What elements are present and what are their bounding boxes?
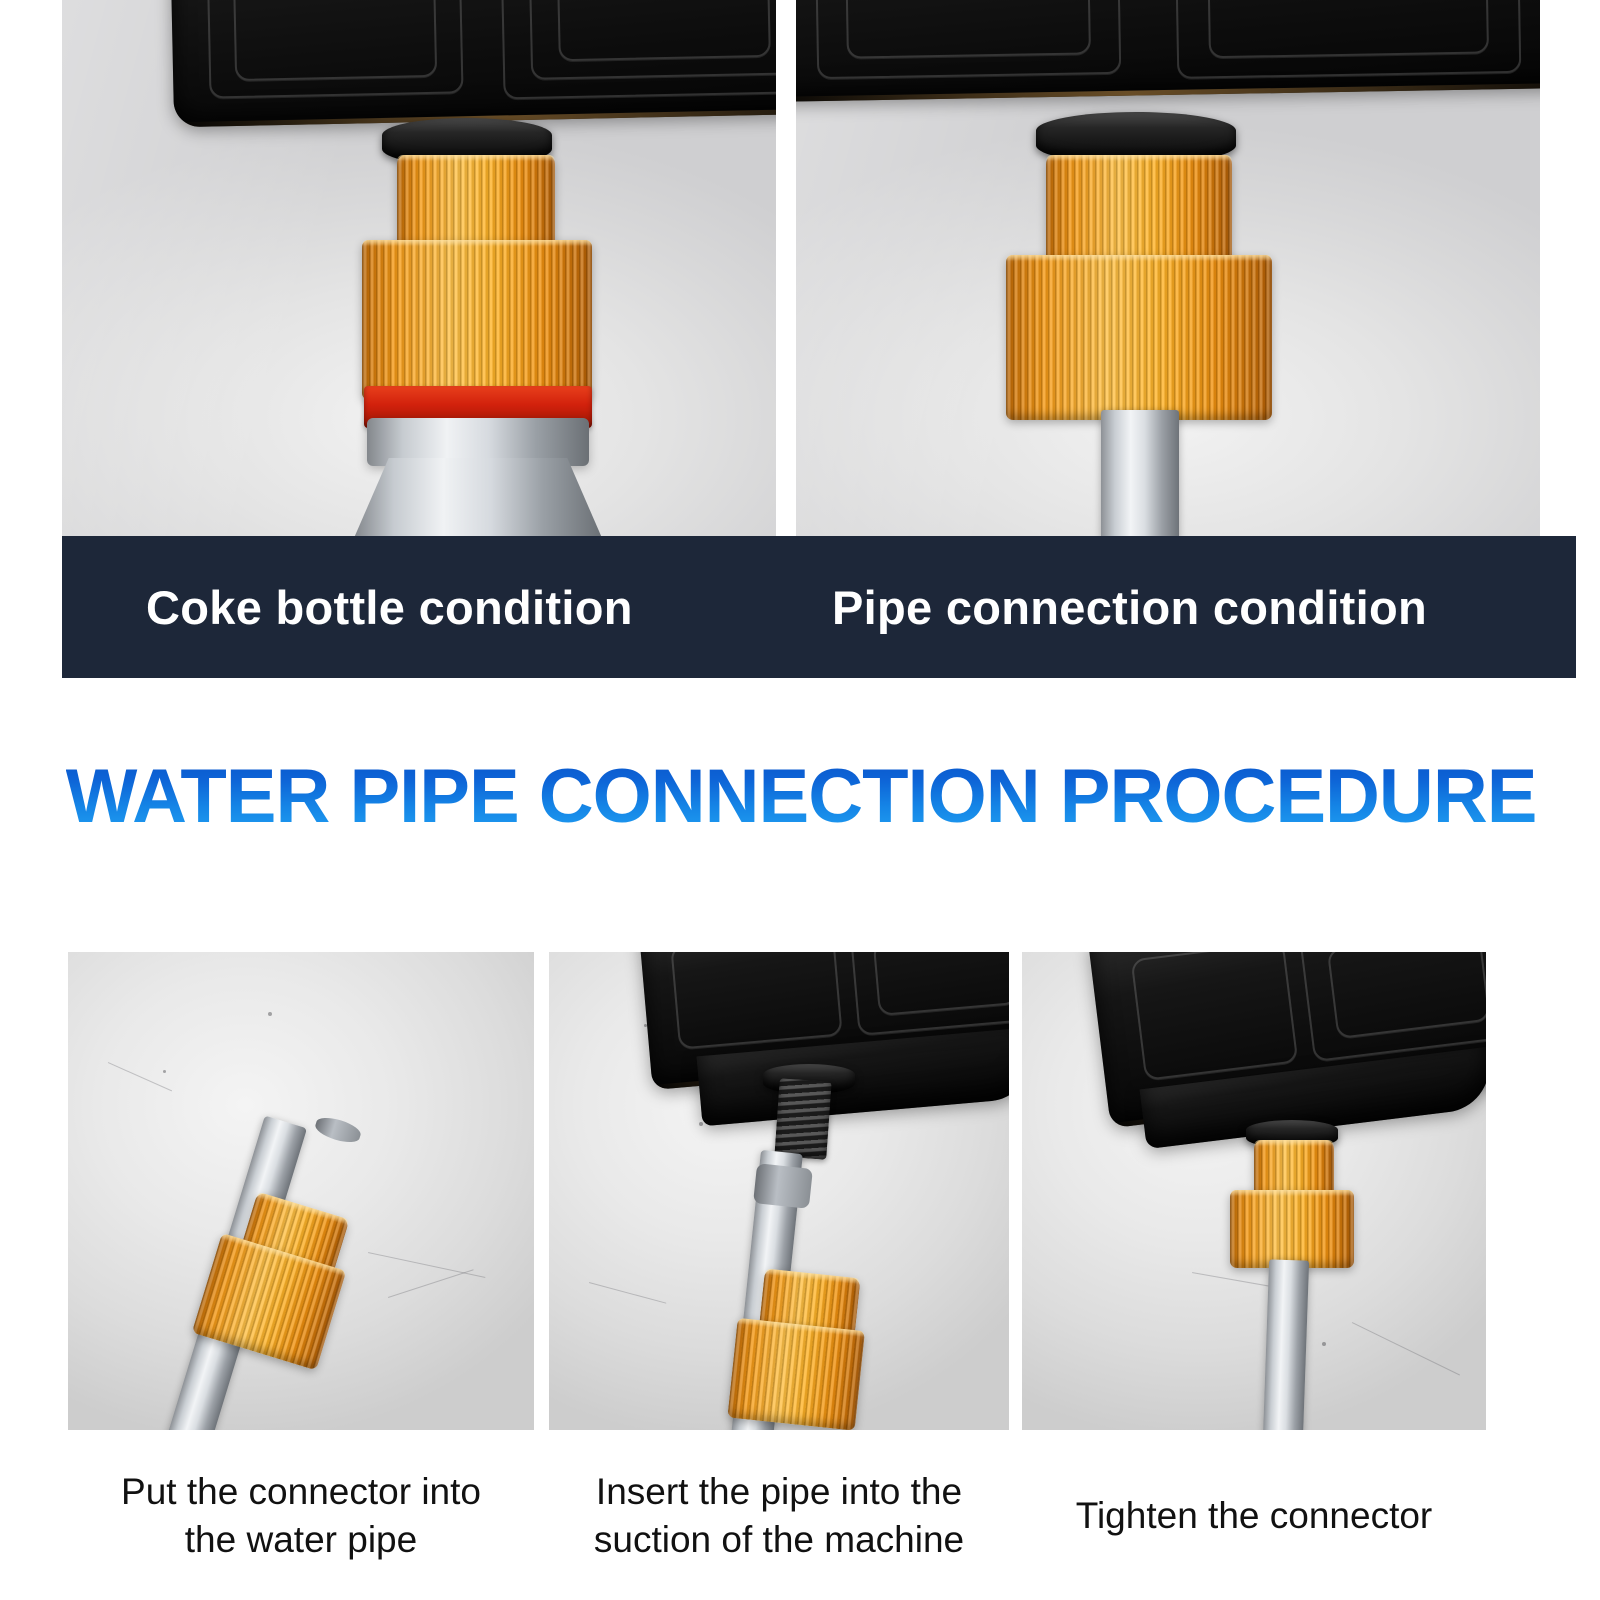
machine-rib — [557, 0, 771, 61]
connector-lower-lip — [1006, 255, 1272, 261]
caption-bar-coke-bottle: Coke bottle condition — [62, 536, 860, 678]
caption-pipe-connection: Pipe connection condition — [832, 580, 1427, 635]
caption-step-3-line-1: Tighten the connector — [1022, 1492, 1486, 1540]
machine-rib — [233, 0, 437, 81]
caption-step-1-line-1: Put the connector into — [68, 1468, 534, 1516]
photo-coke-bottle-condition — [62, 0, 776, 536]
machine-rib — [670, 952, 842, 1050]
connector-assembly — [686, 1262, 903, 1430]
photo-put-connector-into-pipe — [68, 952, 534, 1430]
photo-panel-step-3 — [1022, 952, 1486, 1430]
caption-step-2-line-1: Insert the pipe into the — [549, 1468, 1009, 1516]
photo-tighten-the-connector — [1022, 952, 1486, 1430]
connector-upper-lip — [397, 155, 555, 161]
machine-body — [796, 0, 1540, 102]
caption-coke-bottle: Coke bottle condition — [146, 580, 633, 635]
connector-lower-collar — [1230, 1190, 1354, 1268]
connector-upper-lip — [1046, 155, 1232, 161]
caption-bar-pipe-connection: Pipe connection condition — [796, 536, 1576, 678]
steel-pipe — [1101, 410, 1179, 536]
steel-pipe-ferrule — [753, 1163, 813, 1209]
connector-lower-lip — [362, 240, 592, 246]
caption-step-2-line-2: suction of the machine — [549, 1516, 1009, 1564]
photo-pipe-connection-condition — [796, 0, 1540, 536]
connector-lower-collar — [727, 1318, 865, 1430]
connector-lower-collar — [362, 240, 592, 400]
machine-rib — [873, 952, 1009, 1016]
bench-speck — [163, 1070, 166, 1073]
coke-bottle-shoulder — [354, 458, 602, 536]
machine-rib — [845, 0, 1091, 59]
bench-speck — [1322, 1342, 1326, 1346]
bench-speck — [699, 1122, 703, 1126]
photo-panel-pipe-connection — [796, 0, 1540, 536]
bench-speck — [268, 1012, 272, 1016]
steel-pipe — [1263, 1259, 1309, 1430]
machine-body — [170, 0, 776, 127]
machine-rib — [1207, 0, 1489, 58]
caption-step-3: Tighten the connector — [1022, 1492, 1486, 1540]
caption-step-1: Put the connector into the water pipe — [68, 1468, 534, 1564]
caption-step-1-line-2: the water pipe — [68, 1516, 534, 1564]
section-headline: WATER PIPE CONNECTION PROCEDURE — [62, 742, 1540, 850]
photo-insert-pipe-into-suction — [549, 952, 1009, 1430]
connector-lower-lip — [1230, 1190, 1354, 1196]
connector-upper-lip — [1254, 1140, 1334, 1146]
headline-text: WATER PIPE CONNECTION PROCEDURE — [66, 753, 1537, 840]
photo-panel-step-2 — [549, 952, 1009, 1430]
photo-panel-step-1 — [68, 952, 534, 1430]
suction-port-threads — [774, 1078, 831, 1159]
photo-panel-coke-bottle — [62, 0, 776, 536]
connector-lower-collar — [1006, 255, 1272, 420]
machine-rib — [1131, 952, 1299, 1081]
caption-step-2: Insert the pipe into the suction of the … — [549, 1468, 1009, 1564]
